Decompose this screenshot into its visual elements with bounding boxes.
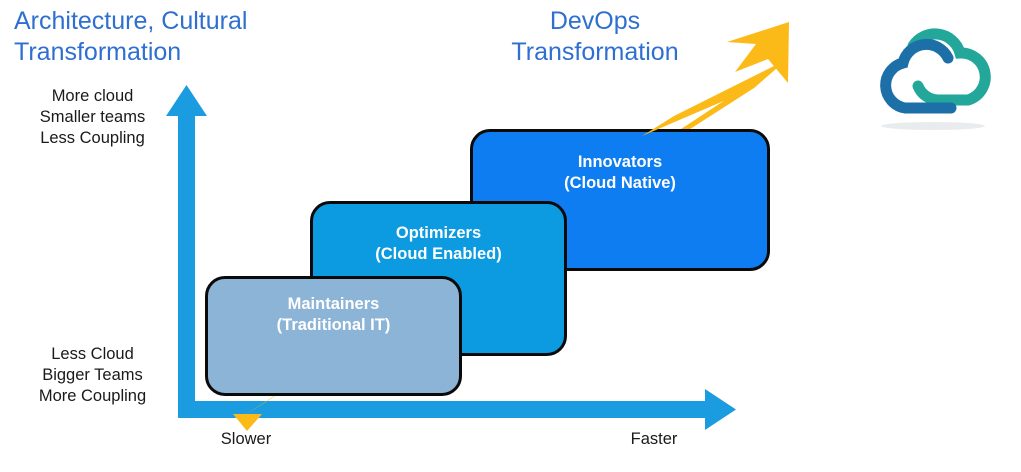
page-title-architecture: Architecture, Cultural Transformation: [14, 6, 247, 68]
slide-canvas: Architecture, Cultural Transformation De…: [0, 0, 1021, 472]
stage-box-innovators-label: Innovators (Cloud Native): [473, 132, 767, 194]
x-axis-right-caption: Faster: [604, 429, 704, 450]
x-axis-left-caption: Slower: [196, 429, 296, 450]
page-title-devops: DevOps Transformation: [470, 6, 720, 68]
stage-box-maintainers[interactable]: Maintainers (Traditional IT): [205, 276, 462, 396]
y-axis-arrow: [166, 85, 207, 418]
logo-shadow: [881, 122, 985, 130]
y-axis-bottom-caption: Less Cloud Bigger Teams More Coupling: [20, 344, 165, 407]
stage-box-maintainers-label: Maintainers (Traditional IT): [208, 279, 459, 336]
y-axis-top-caption: More cloud Smaller teams Less Coupling: [20, 86, 165, 149]
interlocking-cloud-logo: [855, 4, 1010, 134]
stage-box-optimizers-label: Optimizers (Cloud Enabled): [313, 204, 564, 265]
